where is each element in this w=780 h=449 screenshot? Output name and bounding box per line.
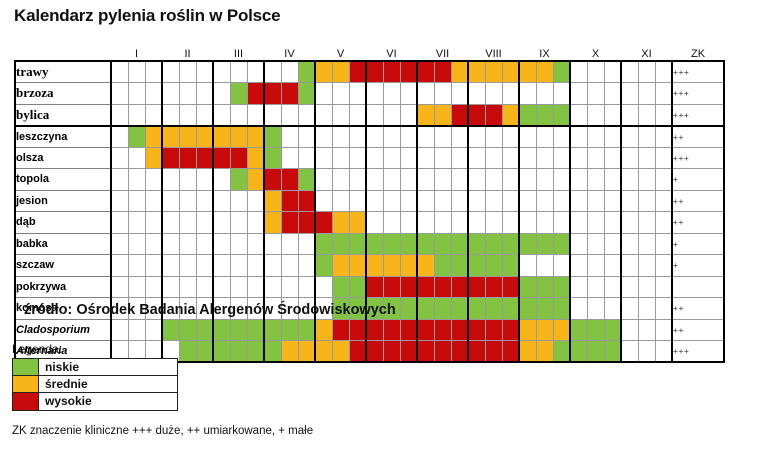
cell-none <box>587 104 604 126</box>
cell-none <box>196 276 213 298</box>
cell-none <box>417 126 434 148</box>
cell-low <box>315 233 332 255</box>
month-label-I: I <box>128 44 145 61</box>
cell-high <box>434 276 451 298</box>
cell-high <box>281 190 298 212</box>
cell-low <box>417 233 434 255</box>
legend-box: niskieśredniewysokie <box>12 358 178 411</box>
cell-none <box>502 212 519 234</box>
cell-medium <box>247 147 264 169</box>
cell-none <box>655 126 672 148</box>
month-spacer <box>349 44 366 61</box>
zk-column-header: ZK <box>672 44 724 61</box>
cell-none <box>213 212 230 234</box>
cell-medium <box>332 212 349 234</box>
cell-none <box>570 104 587 126</box>
cell-none <box>604 233 621 255</box>
cell-low <box>536 233 553 255</box>
cell-none <box>111 255 128 277</box>
cell-none <box>570 147 587 169</box>
cell-high <box>451 319 468 341</box>
cell-none <box>604 169 621 191</box>
cell-none <box>213 255 230 277</box>
cell-none <box>366 147 383 169</box>
cell-low <box>536 104 553 126</box>
cell-high <box>247 83 264 105</box>
cell-none <box>400 104 417 126</box>
cell-none <box>162 276 179 298</box>
cell-none <box>315 169 332 191</box>
month-spacer <box>451 44 468 61</box>
cell-low <box>553 61 570 83</box>
cell-low <box>128 126 145 148</box>
cell-low <box>536 276 553 298</box>
legend-swatch <box>13 393 39 410</box>
cell-none <box>621 61 638 83</box>
month-spacer <box>502 44 519 61</box>
legend-swatch <box>13 359 39 375</box>
cell-none <box>264 276 281 298</box>
cell-none <box>604 276 621 298</box>
cell-none <box>587 147 604 169</box>
legend-swatch <box>13 376 39 392</box>
cell-low <box>502 255 519 277</box>
cell-none <box>230 233 247 255</box>
cell-high <box>383 341 400 363</box>
cell-none <box>315 276 332 298</box>
cell-none <box>621 233 638 255</box>
cell-none <box>417 169 434 191</box>
cell-medium <box>230 126 247 148</box>
cell-high <box>468 341 485 363</box>
cell-none <box>604 61 621 83</box>
cell-none <box>451 83 468 105</box>
cell-none <box>468 147 485 169</box>
cell-none <box>638 298 655 320</box>
plant-name: dąb <box>15 212 111 234</box>
cell-none <box>264 104 281 126</box>
cell-high <box>434 319 451 341</box>
cell-none <box>196 233 213 255</box>
month-spacer <box>621 44 638 61</box>
cell-none <box>383 126 400 148</box>
cell-low <box>196 319 213 341</box>
plant-name: topola <box>15 169 111 191</box>
cell-none <box>128 212 145 234</box>
cell-high <box>451 276 468 298</box>
cell-medium <box>145 126 162 148</box>
cell-none <box>587 190 604 212</box>
cell-none <box>468 126 485 148</box>
cell-high <box>349 341 366 363</box>
cell-low <box>451 255 468 277</box>
cell-none <box>604 104 621 126</box>
cell-none <box>196 169 213 191</box>
cell-none <box>587 276 604 298</box>
cell-none <box>655 83 672 105</box>
month-spacer <box>400 44 417 61</box>
cell-none <box>502 147 519 169</box>
cell-high <box>230 147 247 169</box>
month-spacer <box>655 44 672 61</box>
month-spacer <box>553 44 570 61</box>
cell-low <box>230 83 247 105</box>
cell-high <box>434 341 451 363</box>
cell-low <box>213 319 230 341</box>
cell-none <box>179 233 196 255</box>
cell-medium <box>281 341 298 363</box>
cell-none <box>179 61 196 83</box>
cell-none <box>434 126 451 148</box>
cell-medium <box>264 190 281 212</box>
cell-none <box>553 255 570 277</box>
cell-none <box>434 212 451 234</box>
cell-high <box>502 276 519 298</box>
plant-name: brzoza <box>15 83 111 105</box>
cell-none <box>570 255 587 277</box>
cell-high <box>485 104 502 126</box>
cell-none <box>128 147 145 169</box>
cell-low <box>434 233 451 255</box>
cell-low <box>230 169 247 191</box>
month-label-IX: IX <box>536 44 553 61</box>
cell-low <box>502 298 519 320</box>
month-spacer <box>247 44 264 61</box>
plant-name: Cladosporium <box>15 319 111 341</box>
month-label-II: II <box>179 44 196 61</box>
cell-none <box>655 147 672 169</box>
cell-none <box>128 83 145 105</box>
month-label-VI: VI <box>383 44 400 61</box>
cell-low <box>536 298 553 320</box>
cell-none <box>145 233 162 255</box>
cell-high <box>417 319 434 341</box>
cell-medium <box>536 61 553 83</box>
cell-none <box>638 104 655 126</box>
table-row: bylica+++ <box>15 104 724 126</box>
legend-item: niskie <box>13 359 177 376</box>
cell-none <box>315 104 332 126</box>
cell-none <box>655 169 672 191</box>
month-label-XI: XI <box>638 44 655 61</box>
cell-none <box>349 190 366 212</box>
table-row: dąb++ <box>15 212 724 234</box>
cell-none <box>111 61 128 83</box>
table-row: trawy+++ <box>15 61 724 83</box>
cell-none <box>332 104 349 126</box>
cell-low <box>553 104 570 126</box>
month-spacer <box>298 44 315 61</box>
cell-low <box>264 319 281 341</box>
cell-high <box>451 341 468 363</box>
cell-high <box>264 83 281 105</box>
legend-item: średnie <box>13 376 177 393</box>
cell-high <box>383 276 400 298</box>
cell-none <box>128 255 145 277</box>
zk-value: +++ <box>672 341 724 363</box>
cell-low <box>196 341 213 363</box>
cell-none <box>145 212 162 234</box>
cell-low <box>587 319 604 341</box>
cell-none <box>179 169 196 191</box>
cell-medium <box>349 212 366 234</box>
cell-none <box>519 255 536 277</box>
cell-low <box>247 341 264 363</box>
cell-none <box>111 319 128 341</box>
cell-high <box>400 61 417 83</box>
cell-none <box>213 169 230 191</box>
cell-medium <box>519 341 536 363</box>
cell-high <box>264 169 281 191</box>
cell-none <box>570 190 587 212</box>
cell-medium <box>468 61 485 83</box>
cell-none <box>621 341 638 363</box>
cell-low <box>264 126 281 148</box>
month-label-VII: VII <box>434 44 451 61</box>
cell-none <box>638 276 655 298</box>
cell-none <box>417 212 434 234</box>
cell-none <box>604 190 621 212</box>
cell-none <box>451 126 468 148</box>
cell-none <box>400 126 417 148</box>
cell-none <box>485 190 502 212</box>
cell-medium <box>315 319 332 341</box>
cell-low <box>570 341 587 363</box>
cell-none <box>179 104 196 126</box>
cell-none <box>655 61 672 83</box>
cell-high <box>349 319 366 341</box>
cell-none <box>655 212 672 234</box>
cell-none <box>604 83 621 105</box>
cell-none <box>655 298 672 320</box>
cell-none <box>655 255 672 277</box>
cell-none <box>468 169 485 191</box>
cell-none <box>247 233 264 255</box>
cell-none <box>298 104 315 126</box>
cell-high <box>468 104 485 126</box>
cell-none <box>519 147 536 169</box>
cell-none <box>332 190 349 212</box>
cell-none <box>587 61 604 83</box>
cell-none <box>621 126 638 148</box>
cell-none <box>638 319 655 341</box>
zk-value: ++ <box>672 212 724 234</box>
cell-none <box>468 83 485 105</box>
cell-none <box>196 61 213 83</box>
cell-medium <box>519 319 536 341</box>
cell-none <box>604 126 621 148</box>
cell-none <box>145 190 162 212</box>
cell-low <box>332 276 349 298</box>
cell-none <box>332 126 349 148</box>
cell-none <box>451 147 468 169</box>
cell-high <box>332 319 349 341</box>
cell-none <box>638 126 655 148</box>
cell-low <box>264 147 281 169</box>
cell-high <box>383 319 400 341</box>
table-row: brzoza+++ <box>15 83 724 105</box>
zk-value: ++ <box>672 319 724 341</box>
cell-none <box>383 147 400 169</box>
cell-none <box>366 104 383 126</box>
cell-none <box>621 83 638 105</box>
cell-none <box>349 104 366 126</box>
cell-low <box>213 341 230 363</box>
cell-none <box>638 83 655 105</box>
cell-none <box>519 190 536 212</box>
cell-none <box>621 190 638 212</box>
cell-none <box>519 126 536 148</box>
cell-high <box>400 276 417 298</box>
cell-low <box>400 233 417 255</box>
cell-high <box>281 212 298 234</box>
cell-low <box>179 341 196 363</box>
cell-none <box>400 169 417 191</box>
cell-none <box>417 190 434 212</box>
cell-high <box>468 276 485 298</box>
zk-value: + <box>672 169 724 191</box>
cell-none <box>162 190 179 212</box>
cell-high <box>366 319 383 341</box>
cell-none <box>196 104 213 126</box>
cell-medium <box>298 341 315 363</box>
cell-high <box>213 147 230 169</box>
cell-low <box>519 276 536 298</box>
legend-heading: Legenda: <box>12 342 62 356</box>
cell-none <box>553 83 570 105</box>
zk-value: +++ <box>672 104 724 126</box>
cell-none <box>451 212 468 234</box>
cell-low <box>298 61 315 83</box>
cell-none <box>536 147 553 169</box>
cell-high <box>502 341 519 363</box>
cell-none <box>587 298 604 320</box>
cell-high <box>400 341 417 363</box>
cell-low <box>485 255 502 277</box>
cell-none <box>621 147 638 169</box>
cell-none <box>655 233 672 255</box>
cell-none <box>247 61 264 83</box>
cell-high <box>502 319 519 341</box>
cell-none <box>553 190 570 212</box>
cell-none <box>502 126 519 148</box>
cell-none <box>638 212 655 234</box>
cell-none <box>451 169 468 191</box>
cell-high <box>400 319 417 341</box>
cell-none <box>536 126 553 148</box>
table-row: Cladosporium++ <box>15 319 724 341</box>
cell-none <box>434 147 451 169</box>
cell-none <box>519 169 536 191</box>
table-row: topola+ <box>15 169 724 191</box>
cell-low <box>417 298 434 320</box>
cell-low <box>604 319 621 341</box>
cell-none <box>247 212 264 234</box>
cell-none <box>417 83 434 105</box>
cell-high <box>298 190 315 212</box>
cell-none <box>145 83 162 105</box>
cell-high <box>451 104 468 126</box>
cell-none <box>570 126 587 148</box>
cell-none <box>145 61 162 83</box>
cell-none <box>298 255 315 277</box>
cell-none <box>553 126 570 148</box>
cell-high <box>281 83 298 105</box>
cell-none <box>604 298 621 320</box>
cell-none <box>281 233 298 255</box>
cell-high <box>162 147 179 169</box>
cell-high <box>179 147 196 169</box>
cell-high <box>349 61 366 83</box>
cell-none <box>638 255 655 277</box>
cell-none <box>366 83 383 105</box>
cell-none <box>281 104 298 126</box>
cell-none <box>145 319 162 341</box>
month-spacer <box>315 44 332 61</box>
cell-none <box>213 61 230 83</box>
month-spacer <box>111 44 128 61</box>
source-credit: źródło: Ośrodek Badania Alergenów Środow… <box>24 302 396 318</box>
cell-medium <box>332 61 349 83</box>
cell-none <box>162 212 179 234</box>
cell-low <box>179 319 196 341</box>
cell-medium <box>179 126 196 148</box>
cell-none <box>213 104 230 126</box>
cell-none <box>383 212 400 234</box>
cell-high <box>417 276 434 298</box>
cell-none <box>230 255 247 277</box>
zk-value: ++ <box>672 126 724 148</box>
month-label-IV: IV <box>281 44 298 61</box>
cell-none <box>434 190 451 212</box>
cell-none <box>383 169 400 191</box>
cell-none <box>570 233 587 255</box>
cell-none <box>655 341 672 363</box>
cell-high <box>434 61 451 83</box>
cell-none <box>179 190 196 212</box>
cell-none <box>162 104 179 126</box>
zk-note: ZK znaczenie kliniczne +++ duże, ++ umia… <box>12 425 313 437</box>
cell-none <box>213 190 230 212</box>
cell-none <box>587 83 604 105</box>
cell-none <box>485 83 502 105</box>
cell-none <box>587 212 604 234</box>
cell-none <box>383 104 400 126</box>
cell-none <box>247 190 264 212</box>
cell-none <box>587 169 604 191</box>
plant-name: szczaw <box>15 255 111 277</box>
cell-medium <box>400 255 417 277</box>
cell-none <box>638 190 655 212</box>
month-label-X: X <box>587 44 604 61</box>
cell-medium <box>349 255 366 277</box>
cell-none <box>570 61 587 83</box>
cell-medium <box>213 126 230 148</box>
plant-name: pokrzywa <box>15 276 111 298</box>
zk-value: +++ <box>672 83 724 105</box>
month-spacer <box>213 44 230 61</box>
cell-none <box>128 276 145 298</box>
cell-none <box>230 276 247 298</box>
table-row: leszczyna++ <box>15 126 724 148</box>
cell-high <box>468 319 485 341</box>
cell-low <box>247 319 264 341</box>
cell-high <box>366 341 383 363</box>
cell-medium <box>502 104 519 126</box>
calendar-header: IIIIIIIVVVIVIIVIIIIXXXIZK <box>15 44 724 61</box>
cell-none <box>570 298 587 320</box>
cell-medium <box>264 212 281 234</box>
